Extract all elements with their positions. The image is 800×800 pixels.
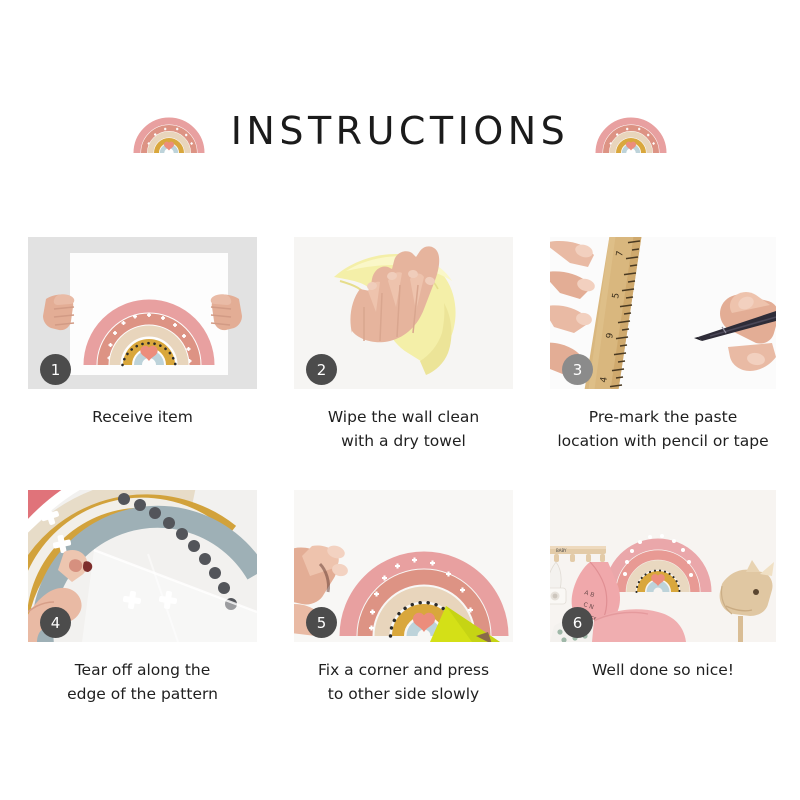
infographic-page: INSTRUCTIONS <box>0 0 800 800</box>
step-card-2: 2 Wipe the wall clean with a dry towel <box>294 237 513 453</box>
step-badge: 1 <box>40 354 71 385</box>
step-caption: Pre-mark the paste location with pencil … <box>550 406 776 453</box>
hand-peeling-film-icon: 4 <box>28 490 257 642</box>
steps-grid-row-1: 1 Receive item <box>28 237 776 453</box>
step-badge: 2 <box>306 354 337 385</box>
step-card-5: 5 Fix a corner and press to other side s… <box>294 490 513 706</box>
step-card-6: BABY A B <box>550 490 776 706</box>
step-caption: Receive item <box>28 406 257 430</box>
rainbow-icon <box>133 108 205 154</box>
hands-holding-sheet-icon: 1 <box>28 237 257 389</box>
page-header: INSTRUCTIONS <box>0 98 800 164</box>
step-caption: Tear off along the edge of the pattern <box>28 659 257 706</box>
caption-line: edge of the pattern <box>30 683 255 707</box>
step-badge: 3 <box>562 354 593 385</box>
page-title: INSTRUCTIONS <box>231 109 570 153</box>
step-caption: Well done so nice! <box>550 659 776 683</box>
step-card-3: 7 5 9 4 <box>550 237 776 453</box>
caption-line: with a dry towel <box>296 430 511 454</box>
step-caption: Fix a corner and press to other side slo… <box>294 659 513 706</box>
caption-line: location with pencil or tape <box>552 430 774 454</box>
caption-line: Pre-mark the paste <box>552 406 774 430</box>
svg-text:BABY: BABY <box>556 548 567 553</box>
steps-grid-row-2: 4 Tear off along the edge of the pattern <box>28 490 776 706</box>
caption-line: to other side slowly <box>296 683 511 707</box>
caption-line: Wipe the wall clean <box>296 406 511 430</box>
step-card-1: 1 Receive item <box>28 237 257 453</box>
caption-line: Tear off along the <box>30 659 255 683</box>
finished-wall-icon: BABY A B <box>550 490 776 642</box>
caption-line: Fix a corner and press <box>296 659 511 683</box>
rainbow-icon <box>595 108 667 154</box>
step-card-4: 4 Tear off along the edge of the pattern <box>28 490 257 706</box>
step-badge: 4 <box>40 607 71 638</box>
hand-and-squeegee-icon: 5 <box>294 490 513 642</box>
hand-with-towel-icon: 2 <box>294 237 513 389</box>
ruler-and-pen-icon: 7 5 9 4 <box>550 237 776 389</box>
step-caption: Wipe the wall clean with a dry towel <box>294 406 513 453</box>
step-badge: 5 <box>306 607 337 638</box>
step-badge: 6 <box>562 607 593 638</box>
